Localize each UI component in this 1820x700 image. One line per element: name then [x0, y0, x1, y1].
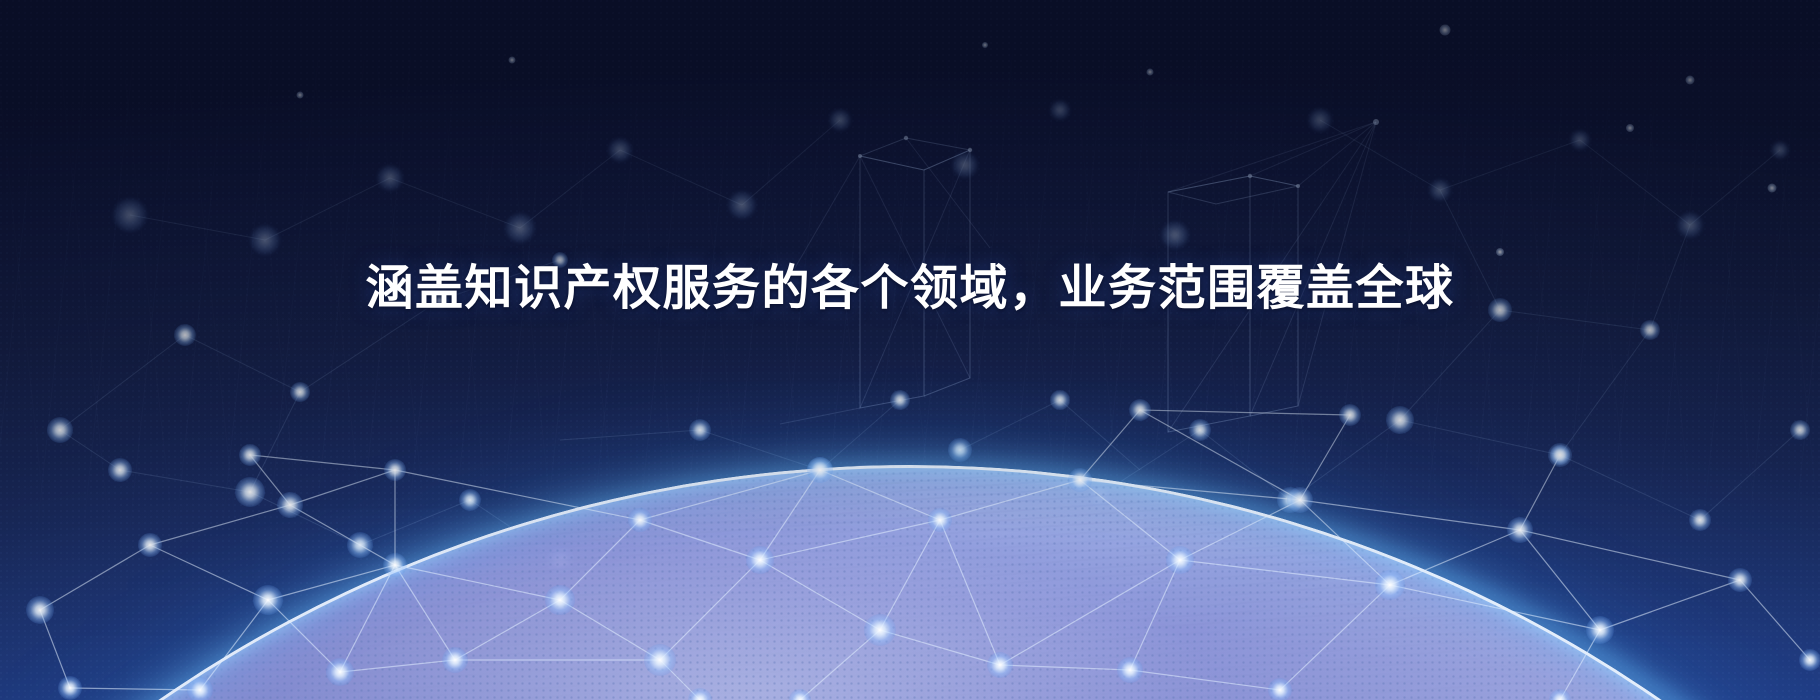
- vignette-overlay: [0, 0, 1820, 700]
- page-title: 涵盖知识产权服务的各个领域，业务范围覆盖全球: [365, 258, 1454, 320]
- headline-row: 涵盖知识产权服务的各个领域，业务范围覆盖全球: [0, 258, 1820, 320]
- hero-banner: 涵盖知识产权服务的各个领域，业务范围覆盖全球: [0, 0, 1820, 700]
